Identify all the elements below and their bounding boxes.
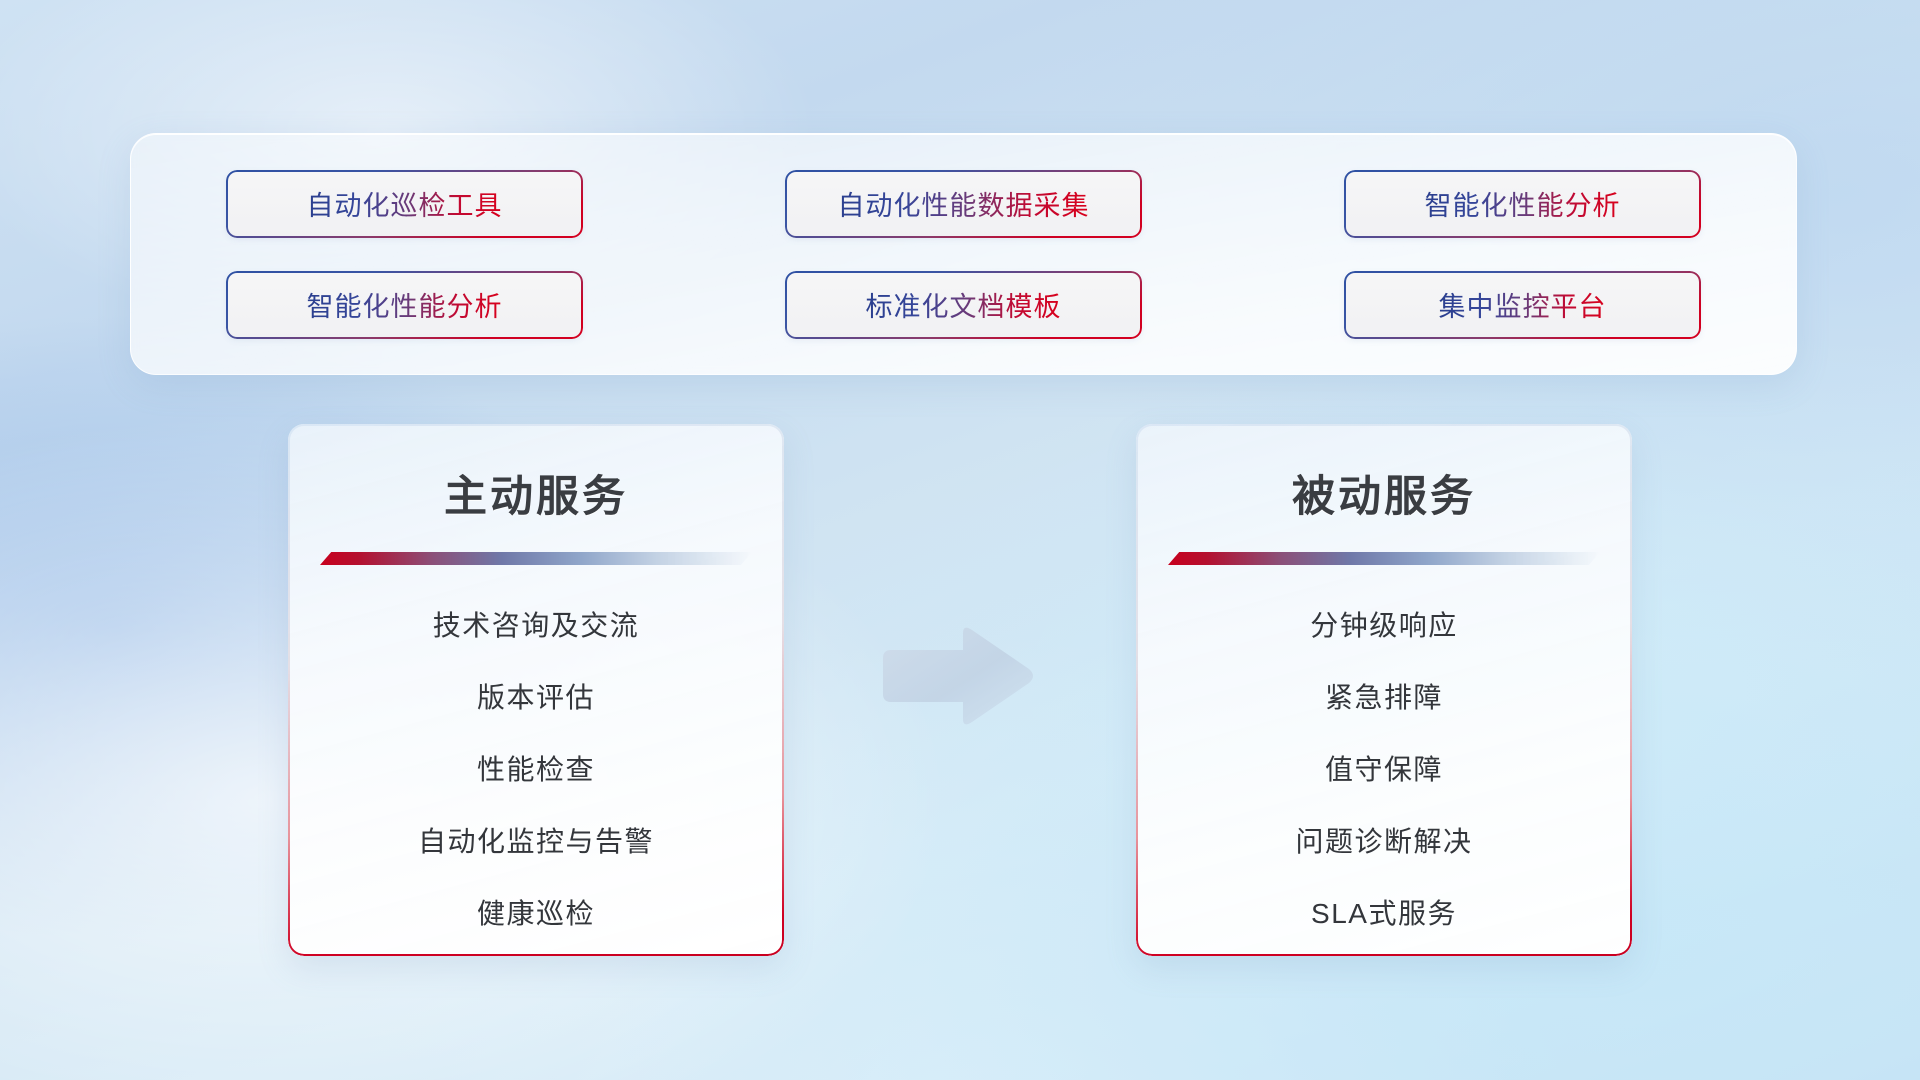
list-item: 分钟级响应 <box>1136 599 1632 653</box>
list-item: SLA式服务 <box>1136 887 1632 941</box>
service-card-reactive[interactable]: 被动服务 分钟级响应 紧急排障 值守保障 问题诊断解决 SLA式服务 <box>1136 424 1632 956</box>
arrow-right-icon <box>877 624 1037 728</box>
capability-pill-2-2[interactable]: 标准化文档模板 <box>785 271 1142 339</box>
slide-canvas: 自动化巡检工具 自动化性能数据采集 智能化性能分析 智能化性能分析 标准化文档模… <box>0 0 1920 1080</box>
capability-pill-1-2[interactable]: 自动化性能数据采集 <box>785 170 1142 238</box>
list-item: 技术咨询及交流 <box>288 599 784 653</box>
title-divider <box>320 552 752 565</box>
capability-pill-label: 智能化性能分析 <box>307 285 503 324</box>
list-item: 性能检查 <box>288 743 784 797</box>
capability-pill-1-3[interactable]: 智能化性能分析 <box>1344 170 1701 238</box>
list-item: 问题诊断解决 <box>1136 815 1632 869</box>
card-title: 主动服务 <box>288 462 784 524</box>
capability-pill-label: 集中监控平台 <box>1439 285 1607 324</box>
title-divider <box>1168 552 1600 565</box>
capability-pill-label: 标准化文档模板 <box>866 285 1062 324</box>
service-item-list: 分钟级响应 紧急排障 值守保障 问题诊断解决 SLA式服务 <box>1136 599 1632 941</box>
capability-pill-2-1[interactable]: 智能化性能分析 <box>226 271 583 339</box>
capability-pill-1-1[interactable]: 自动化巡检工具 <box>226 170 583 238</box>
capability-panel: 自动化巡检工具 自动化性能数据采集 智能化性能分析 智能化性能分析 标准化文档模… <box>130 133 1797 375</box>
capability-row-1: 自动化巡检工具 自动化性能数据采集 智能化性能分析 <box>226 170 1701 238</box>
capability-pill-label: 自动化性能数据采集 <box>838 184 1090 223</box>
capability-row-2: 智能化性能分析 标准化文档模板 集中监控平台 <box>226 271 1701 339</box>
card-title: 被动服务 <box>1136 462 1632 524</box>
list-item: 紧急排障 <box>1136 671 1632 725</box>
service-card-proactive[interactable]: 主动服务 技术咨询及交流 版本评估 性能检查 自动化监控与告警 健康巡检 <box>288 424 784 956</box>
capability-pill-label: 自动化巡检工具 <box>307 184 503 223</box>
service-item-list: 技术咨询及交流 版本评估 性能检查 自动化监控与告警 健康巡检 <box>288 599 784 941</box>
list-item: 版本评估 <box>288 671 784 725</box>
list-item: 值守保障 <box>1136 743 1632 797</box>
capability-pill-2-3[interactable]: 集中监控平台 <box>1344 271 1701 339</box>
list-item: 健康巡检 <box>288 887 784 941</box>
capability-pill-label: 智能化性能分析 <box>1425 184 1621 223</box>
list-item: 自动化监控与告警 <box>288 815 784 869</box>
